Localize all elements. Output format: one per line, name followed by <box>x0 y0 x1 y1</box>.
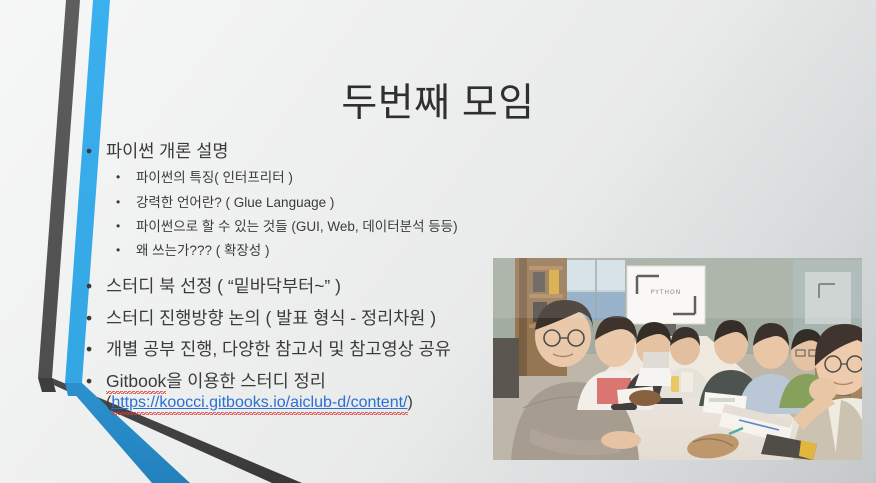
spacer <box>84 259 504 275</box>
bullet-marker-icon: • <box>86 370 92 392</box>
sub-bullet-3: • 파이썬으로 할 수 있는 것들 (GUI, Web, 데이터분석 등등) <box>84 218 504 235</box>
bullet-marker-icon: • <box>86 307 92 329</box>
sub-bullet-4: • 왜 쓰는가??? ( 확장성 ) <box>84 242 504 259</box>
bullet-marker-icon: • <box>116 242 120 259</box>
spacer <box>84 361 504 370</box>
slide-title: 두번째 모임 <box>0 72 876 128</box>
spacer <box>84 162 504 169</box>
bullet-text: 스터디 북 선정 ( “밑바닥부터~” ) <box>106 276 341 296</box>
spacer <box>84 211 504 218</box>
bullet-section1-heading: • 파이썬 개론 설명 <box>84 140 504 162</box>
gitbook-word-misspelled: Gitbook <box>106 370 166 392</box>
spacer <box>84 187 504 194</box>
bullet-marker-icon: • <box>116 194 120 211</box>
gitbook-url-link[interactable]: https://koocci.gitbooks.io/aiclub-d/cont… <box>111 394 407 411</box>
spacer <box>84 298 504 307</box>
sub-bullet-text: 강력한 언어란? ( Glue Language ) <box>136 195 334 210</box>
slide-body: • 파이썬 개론 설명 • 파이썬의 특징( 인터프리터 ) • 강력한 언어란… <box>84 140 504 412</box>
sub-bullet-text: 파이썬으로 할 수 있는 것들 (GUI, Web, 데이터분석 등등) <box>136 219 458 234</box>
gitbook-line-rest: 을 이용한 스터디 정리 <box>166 371 326 391</box>
sub-bullet-2: • 강력한 언어란? ( Glue Language ) <box>84 194 504 211</box>
bullet-marker-icon: • <box>86 275 92 297</box>
paren-close: ) <box>408 394 413 411</box>
presentation-slide: 두번째 모임 • 파이썬 개론 설명 • 파이썬의 특징( 인터프리터 ) • … <box>0 0 876 483</box>
bullet-section2-item-3: • 개별 공부 진행, 다양한 참고서 및 참고영상 공유 <box>84 338 504 360</box>
sub-bullet-1: • 파이썬의 특징( 인터프리터 ) <box>84 169 504 186</box>
bullet-marker-icon: • <box>116 218 120 235</box>
bullet-text: 파이썬 개론 설명 <box>106 141 228 161</box>
bullet-section2-item-1: • 스터디 북 선정 ( “밑바닥부터~” ) <box>84 275 504 297</box>
sub-bullet-text: 왜 쓰는가??? ( 확장성 ) <box>136 243 269 258</box>
study-group-photo: PYTHON <box>493 258 862 460</box>
bullet-text: 스터디 진행방향 논의 ( 발표 형식 - 정리차원 ) <box>106 308 436 328</box>
bullet-text: 개별 공부 진행, 다양한 참고서 및 참고영상 공유 <box>106 339 451 359</box>
bullet-section2-item-gitbook: • Gitbook을 이용한 스터디 정리 (https://koocci.gi… <box>84 370 504 413</box>
bullet-marker-icon: • <box>86 140 92 162</box>
bullet-marker-icon: • <box>86 338 92 360</box>
bullet-marker-icon: • <box>116 169 120 186</box>
bullet-section2-item-2: • 스터디 진행방향 논의 ( 발표 형식 - 정리차원 ) <box>84 307 504 329</box>
gitbook-url-line: (https://koocci.gitbooks.io/aiclub-d/con… <box>106 393 504 412</box>
spacer <box>84 235 504 242</box>
sub-bullet-text: 파이썬의 특징( 인터프리터 ) <box>136 170 293 185</box>
spacer <box>84 329 504 338</box>
